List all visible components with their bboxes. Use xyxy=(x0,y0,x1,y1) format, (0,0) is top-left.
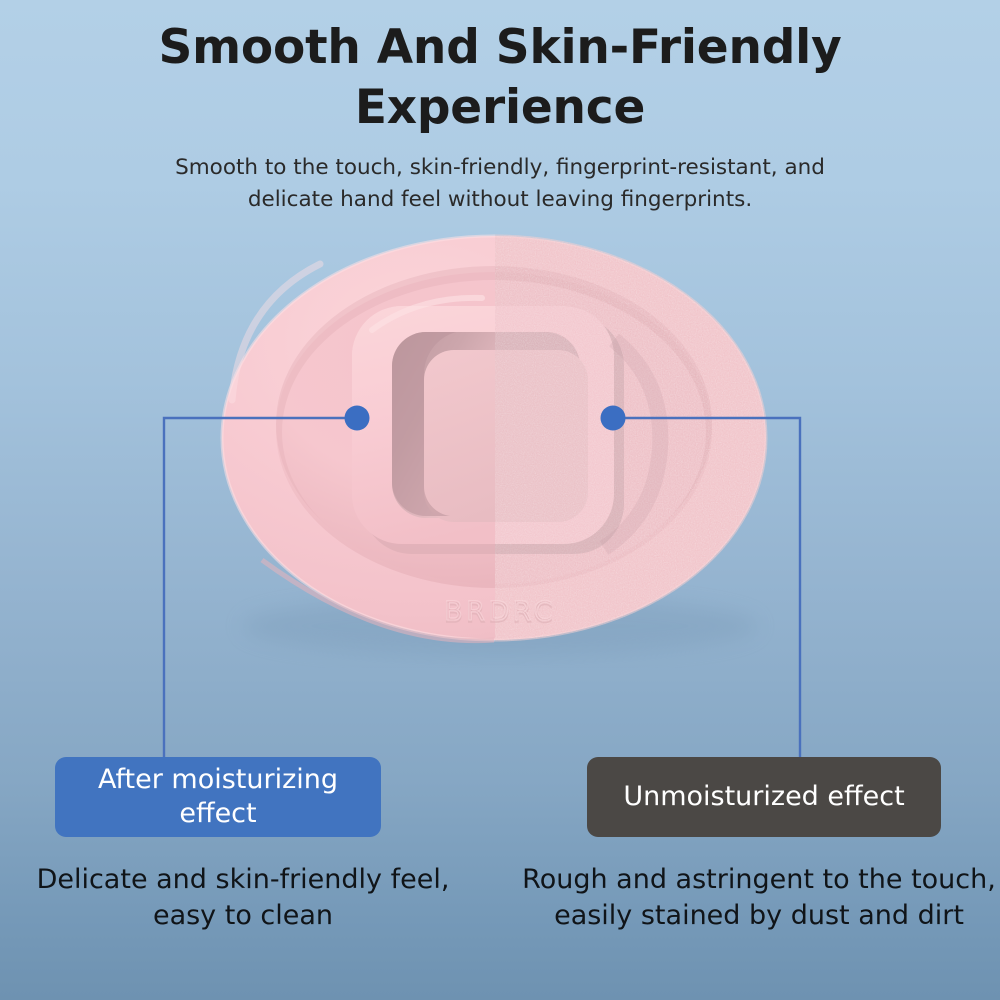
caption-left: Delicate and skin-friendly feel, easy to… xyxy=(8,862,478,934)
product-feature-slide: Smooth And Skin-Friendly Experience Smoo… xyxy=(0,0,1000,1000)
svg-text:BRDRC: BRDRC xyxy=(444,596,556,627)
caption-right: Rough and astringent to the touch, easil… xyxy=(520,862,998,934)
product-stage: BRDRC BRDRC xyxy=(0,0,1000,1000)
badge-after-moisturizing[interactable]: After moisturizing effect xyxy=(55,757,381,837)
product-image: BRDRC BRDRC xyxy=(0,0,1000,1000)
brand-emboss: BRDRC BRDRC xyxy=(444,596,556,629)
badge-unmoisturized[interactable]: Unmoisturized effect xyxy=(587,757,941,837)
